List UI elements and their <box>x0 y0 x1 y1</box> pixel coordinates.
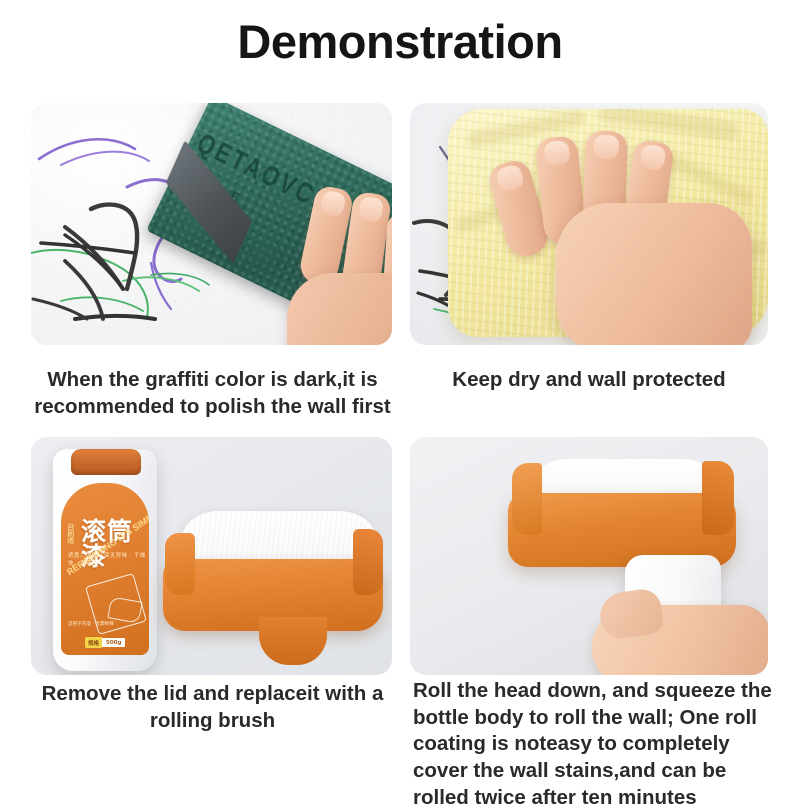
paint-bottle: 自刷墙 滚筒漆 遮盖力强 · 环保无异味 · 干燥快 · 易清洁 REFINIS… <box>53 449 157 671</box>
label-side-text: 自刷墙 <box>66 523 74 544</box>
roller-end-cap-left <box>165 533 195 595</box>
palm <box>287 273 392 345</box>
hand-wiping-wall <box>498 131 748 343</box>
demonstration-infographic: Demonstration <box>0 0 800 800</box>
step-2-caption: Keep dry and wall protected <box>408 366 770 393</box>
label-spec-badge: 规格 500g <box>85 637 125 648</box>
step-1-image: QETAOVCK SHD 5 <box>31 103 392 345</box>
label-spec-badge-right: 500g <box>102 638 125 647</box>
fingernail <box>319 190 346 218</box>
step-3-caption: Remove the lid and replaceit with a roll… <box>20 680 405 735</box>
label-footer-text: 适用于内墙 · 无需稀释 <box>68 622 114 629</box>
page-title: Demonstration <box>0 14 800 69</box>
roller-brush-head <box>163 511 383 666</box>
step-4-image <box>410 437 768 675</box>
label-spec-badge-left: 规格 <box>85 637 102 648</box>
roller-end-cap-right <box>702 461 734 535</box>
thumb <box>597 587 665 641</box>
fingernail <box>358 196 384 223</box>
roller-end-cap-left <box>512 463 542 535</box>
step-3-image: 自刷墙 滚筒漆 遮盖力强 · 环保无异味 · 干燥快 · 易清洁 REFINIS… <box>31 437 392 675</box>
hand-holding-sanding-block <box>243 187 392 345</box>
step-4-caption: Roll the head down, and squeeze the bott… <box>413 678 781 811</box>
hand-squeezing-bottle <box>592 587 768 675</box>
bottle-label: 自刷墙 滚筒漆 遮盖力强 · 环保无异味 · 干燥快 · 易清洁 REFINIS… <box>61 483 149 655</box>
fingernail <box>543 140 571 167</box>
step-2-image <box>410 103 768 345</box>
roller-bottle-connector <box>259 617 327 665</box>
fingernail <box>639 144 666 171</box>
roller-end-cap-right <box>353 529 383 595</box>
step-1-caption: When the graffiti color is dark,it is re… <box>20 366 405 421</box>
bottle-cap <box>71 449 141 475</box>
fingernail <box>593 135 619 160</box>
palm <box>556 203 752 345</box>
fingernail <box>495 163 526 193</box>
